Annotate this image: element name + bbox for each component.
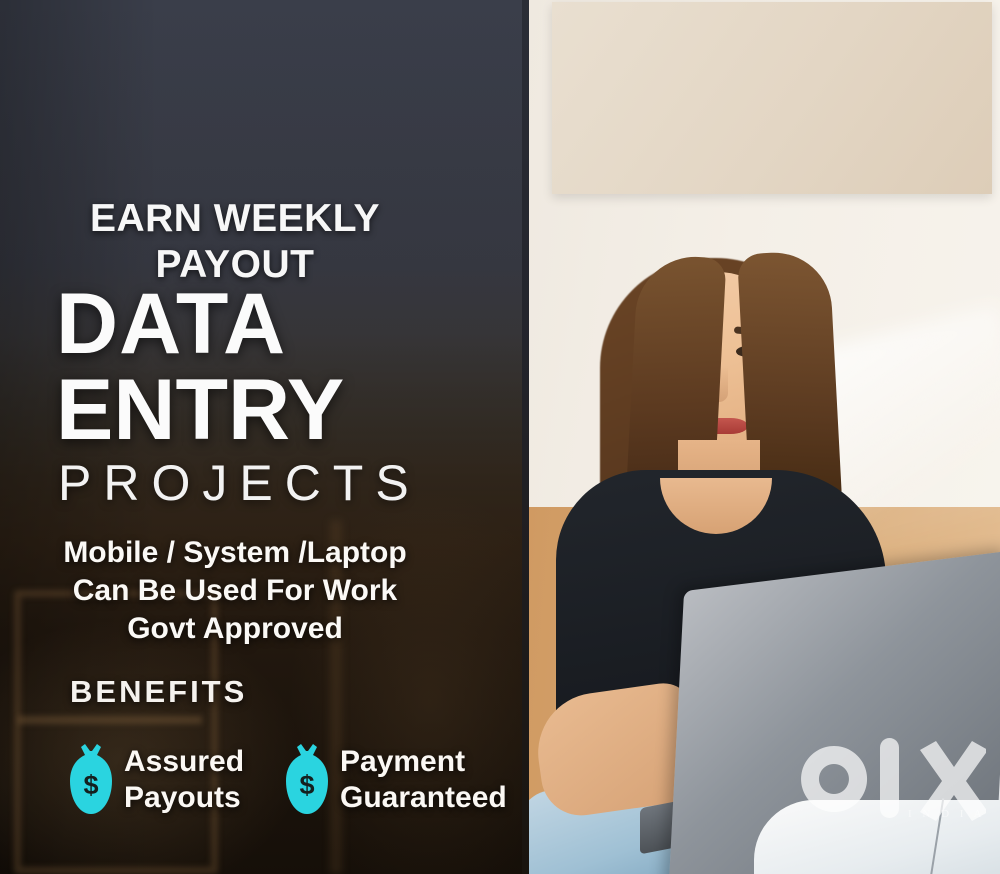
text-panel: EARN WEEKLY PAYOUT DATA ENTRY PROJECTS M… [0,0,528,874]
headline-data: DATA [56,281,286,367]
framed-canvas-art [552,2,992,194]
headline-entry: ENTRY [56,367,344,453]
svg-text:$: $ [83,770,98,800]
photo-woman-with-laptop: I N D I A [528,0,1000,874]
money-bag-icon: $ [282,742,332,818]
sub-line-2: Can Be Used For Work [0,572,470,610]
sub-line-1: Mobile / System /Laptop [0,534,470,572]
sub-line-3: Govt Approved [0,610,470,648]
svg-text:$: $ [299,770,314,800]
benefit-item: $ Payment Guaranteed [282,742,507,818]
kicker-line-1: EARN WEEKLY [0,196,470,242]
benefits-heading: BENEFITS [70,674,247,710]
panel-divider [522,0,529,874]
poster-image: I N D I A EARN WEEKLY PAYOUT DATA ENTRY … [0,0,1000,874]
benefit-item: $ Assured Payouts [66,742,244,818]
olx-watermark-sub: I N D I A [908,808,986,820]
benefit-label: Payment Guaranteed [340,744,507,816]
poster-copy: EARN WEEKLY PAYOUT DATA ENTRY PROJECTS M… [0,0,528,874]
headline-projects: PROJECTS [58,456,421,510]
money-bag-icon: $ [66,742,116,818]
benefit-label: Assured Payouts [124,744,244,816]
